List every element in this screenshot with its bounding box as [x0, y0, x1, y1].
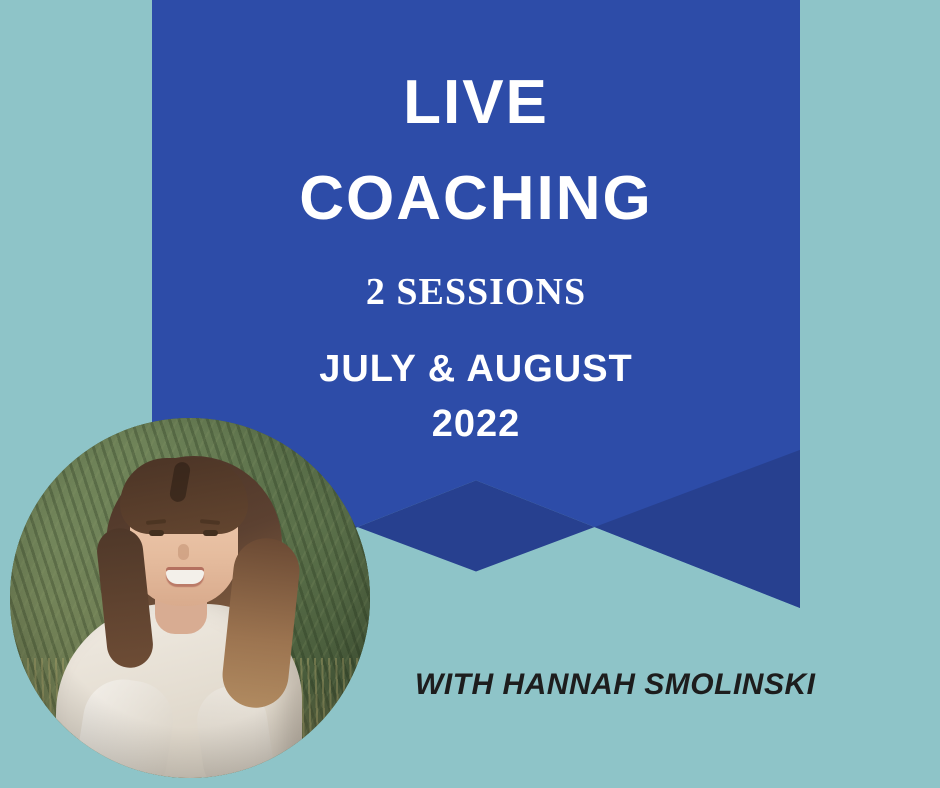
session-count-label: 2 SESSIONS — [152, 270, 800, 314]
title-line-2: COACHING — [152, 168, 800, 230]
promo-poster: LIVE COACHING 2 SESSIONS JULY & AUGUST 2… — [0, 0, 940, 788]
portrait-vignette — [10, 418, 370, 778]
dates-line-1: JULY & AUGUST — [152, 350, 800, 388]
avatar — [10, 418, 370, 778]
title-line-1: LIVE — [152, 72, 800, 134]
presenter-credit: WITH HANNAH SMOLINSKI — [415, 668, 815, 702]
